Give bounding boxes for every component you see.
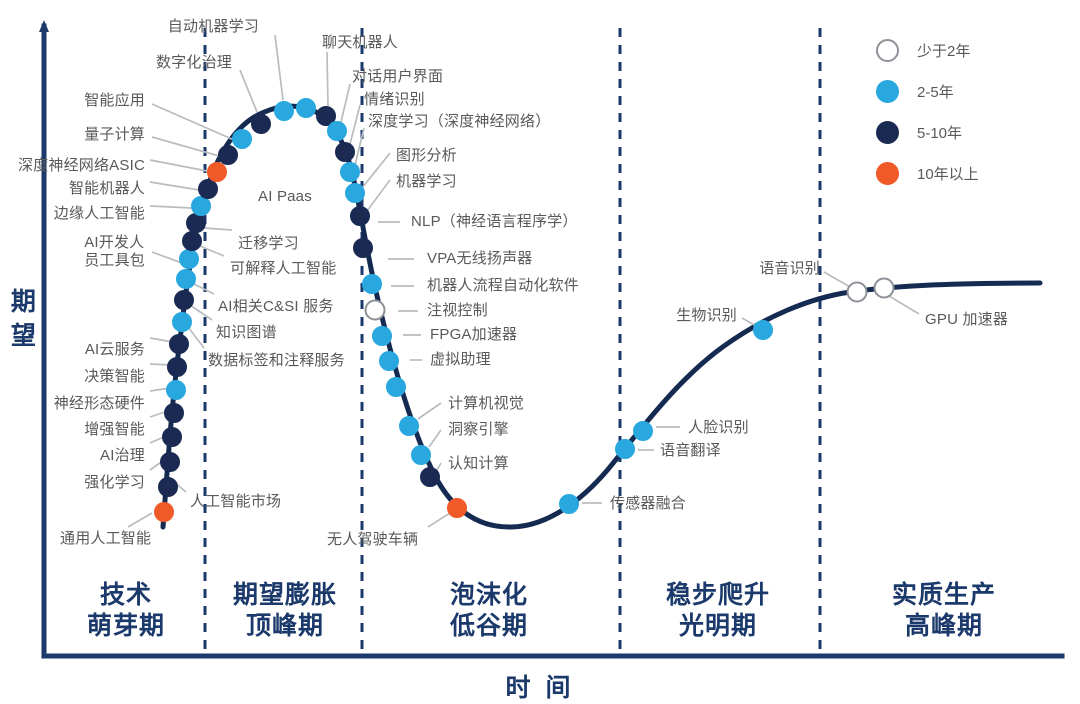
technology-dot[interactable]	[336, 143, 355, 162]
y-axis-label: 期 望	[6, 288, 36, 355]
x-axis-label: 时 间	[506, 668, 575, 704]
technology-label: 深度神经网络ASIC	[18, 157, 145, 175]
technology-dot[interactable]	[363, 275, 382, 294]
technology-dot[interactable]	[560, 495, 579, 514]
leader-line	[240, 70, 257, 112]
technology-label: 数字化治理	[156, 54, 232, 72]
technology-dot[interactable]	[159, 478, 178, 497]
technology-dot[interactable]	[387, 378, 406, 397]
technology-label: 对话用户界面	[352, 68, 443, 86]
technology-dot[interactable]	[252, 115, 271, 134]
technology-label: 可解释人工智能	[230, 260, 336, 278]
technology-label: 机器学习	[396, 173, 457, 191]
legend-item-less-than-2-years: 少于2年	[876, 30, 979, 71]
technology-label: 机器人流程自动化软件	[427, 277, 579, 295]
technology-label: 语音识别	[759, 260, 820, 278]
technology-label: 边缘人工智能	[54, 205, 145, 223]
technology-dot[interactable]	[168, 358, 187, 377]
technology-dot[interactable]	[170, 335, 189, 354]
legend-dot-5-to-10-years	[876, 121, 899, 144]
leader-line	[152, 252, 182, 263]
stage-label-line1: 泡沫化	[450, 580, 528, 611]
leader-line	[429, 430, 441, 447]
technology-label: NLP（神经语言程序学）	[411, 213, 578, 231]
leader-line	[341, 84, 350, 122]
technology-label: AI开发人 员工具包	[84, 234, 145, 271]
technology-label: 智能机器人	[69, 180, 145, 198]
technology-label: 神经形态硬件	[54, 395, 145, 413]
technology-label: 虚拟助理	[430, 351, 491, 369]
technology-dot[interactable]	[155, 503, 174, 522]
technology-dot[interactable]	[192, 197, 211, 216]
technology-dot[interactable]	[616, 440, 635, 459]
technology-dot[interactable]	[173, 313, 192, 332]
technology-dot[interactable]	[187, 214, 206, 233]
technology-label: 图形分析	[396, 147, 457, 165]
technology-label: 计算机视觉	[448, 395, 524, 413]
technology-label: GPU 加速器	[925, 311, 1008, 329]
technology-label: 注视控制	[427, 302, 488, 320]
technology-dot[interactable]	[421, 468, 440, 487]
technology-label: 人工智能市场	[190, 493, 281, 511]
stage-label-line1: 实质生产	[892, 580, 996, 611]
technology-dot[interactable]	[297, 99, 316, 118]
technology-dot[interactable]	[380, 352, 399, 371]
leader-line	[275, 35, 283, 100]
technology-dot[interactable]	[180, 250, 199, 269]
stage-label-5: 实质生产高峰期	[892, 580, 996, 643]
technology-label: 决策智能	[84, 368, 145, 386]
leader-line	[437, 463, 441, 470]
stage-label-line2: 顶峰期	[233, 611, 337, 642]
technology-label: 增强智能	[84, 421, 145, 439]
leader-line	[428, 513, 450, 527]
leader-line	[150, 182, 199, 190]
technology-label: 聊天机器人	[322, 34, 398, 52]
technology-label: AI相关C&SI 服务	[218, 298, 334, 316]
technology-dot[interactable]	[400, 417, 419, 436]
legend-item-over-10-years: 10年以上	[876, 153, 979, 194]
leader-line	[327, 52, 328, 106]
leader-line	[355, 128, 364, 165]
technology-dot[interactable]	[448, 499, 467, 518]
technology-label: 语音翻译	[660, 442, 721, 460]
technology-label: 智能应用	[84, 92, 145, 110]
label-ai-paas: AI Paas	[258, 188, 312, 206]
technology-label: 数据标签和注释服务	[208, 352, 345, 370]
technology-label: AI治理	[100, 447, 145, 465]
leader-line	[418, 403, 441, 419]
stage-label-1: 技术萌芽期	[87, 580, 165, 643]
stage-label-line1: 期望膨胀	[233, 580, 337, 611]
legend-label-over-10-years: 10年以上	[917, 163, 979, 184]
technology-label: 迁移学习	[238, 235, 299, 253]
stage-label-2: 期望膨胀顶峰期	[233, 580, 337, 643]
stage-label-line2: 萌芽期	[87, 611, 165, 642]
maturity-legend: 少于2年2-5年5-10年10年以上	[876, 30, 979, 194]
technology-label: 传感器融合	[610, 495, 686, 513]
technology-dot[interactable]	[373, 327, 392, 346]
technology-label: 无人驾驶车辆	[327, 531, 418, 549]
leader-line	[150, 206, 192, 208]
y-axis-arrow	[39, 20, 49, 32]
technology-label: VPA无线扬声器	[427, 250, 533, 268]
technology-dot[interactable]	[634, 422, 653, 441]
technology-label: 通用人工智能	[60, 530, 151, 548]
technology-label: 知识图谱	[216, 324, 277, 342]
legend-dot-less-than-2-years	[876, 39, 899, 62]
technology-label: 人脸识别	[688, 419, 749, 437]
technology-dot[interactable]	[167, 381, 186, 400]
technology-label: 认知计算	[448, 455, 509, 473]
technology-label: 深度学习（深度神经网络）	[368, 113, 550, 131]
technology-dot[interactable]	[165, 404, 184, 423]
hype-cycle-chart: 通用人工智能人工智能市场强化学习AI治理增强智能神经形态硬件决策智能AI云服务数…	[0, 0, 1080, 704]
technology-dot[interactable]	[875, 279, 894, 298]
stage-label-line1: 技术	[87, 580, 165, 611]
technology-label: FPGA加速器	[430, 326, 517, 344]
technology-dot[interactable]	[161, 453, 180, 472]
leader-line	[350, 105, 360, 144]
technology-label: AI云服务	[85, 341, 145, 359]
technology-dot[interactable]	[328, 122, 347, 141]
technology-dot[interactable]	[199, 180, 218, 199]
technology-dot[interactable]	[412, 446, 431, 465]
leader-line	[190, 305, 212, 320]
stage-label-line2: 低谷期	[450, 611, 528, 642]
technology-dot[interactable]	[183, 232, 202, 251]
leader-line	[128, 513, 152, 527]
legend-item-2-to-5-years: 2-5年	[876, 71, 979, 112]
legend-label-2-to-5-years: 2-5年	[917, 81, 954, 102]
technology-dot[interactable]	[354, 239, 373, 258]
stage-label-3: 泡沫化低谷期	[450, 580, 528, 643]
stage-label-line2: 光明期	[666, 611, 770, 642]
technology-label: 量子计算	[84, 126, 145, 144]
technology-dot[interactable]	[754, 321, 773, 340]
technology-dot[interactable]	[163, 428, 182, 447]
technology-label: 强化学习	[84, 474, 145, 492]
leader-line	[152, 104, 234, 140]
technology-dot[interactable]	[366, 301, 385, 320]
leader-line	[889, 296, 919, 314]
legend-label-5-to-10-years: 5-10年	[917, 122, 962, 143]
technology-dot[interactable]	[346, 184, 365, 203]
stage-label-line1: 稳步爬升	[666, 580, 770, 611]
leader-line	[367, 180, 390, 211]
technology-label: 洞察引擎	[448, 421, 509, 439]
technology-dot[interactable]	[341, 163, 360, 182]
leader-line	[362, 153, 390, 188]
technology-dot[interactable]	[275, 102, 294, 121]
stage-label-4: 稳步爬升光明期	[666, 580, 770, 643]
technology-dot[interactable]	[351, 207, 370, 226]
legend-label-less-than-2-years: 少于2年	[917, 40, 970, 61]
leader-line	[188, 327, 204, 348]
legend-item-5-to-10-years: 5-10年	[876, 112, 979, 153]
leader-line	[742, 318, 756, 326]
technology-label: 自动机器学习	[168, 18, 259, 36]
legend-dot-over-10-years	[876, 162, 899, 185]
leader-line	[150, 160, 207, 171]
leader-line	[204, 228, 232, 230]
technology-label: 生物识别	[676, 307, 737, 325]
technology-dot[interactable]	[177, 270, 196, 289]
technology-dot[interactable]	[208, 163, 227, 182]
technology-dot[interactable]	[233, 130, 252, 149]
technology-dot[interactable]	[175, 291, 194, 310]
technology-dot[interactable]	[848, 283, 867, 302]
leader-line	[824, 272, 850, 287]
leader-line	[192, 283, 214, 294]
stage-label-line2: 高峰期	[892, 611, 996, 642]
technology-label: 情绪识别	[364, 91, 425, 109]
legend-dot-2-to-5-years	[876, 80, 899, 103]
leader-line	[152, 137, 219, 156]
technology-dot[interactable]	[219, 146, 238, 165]
